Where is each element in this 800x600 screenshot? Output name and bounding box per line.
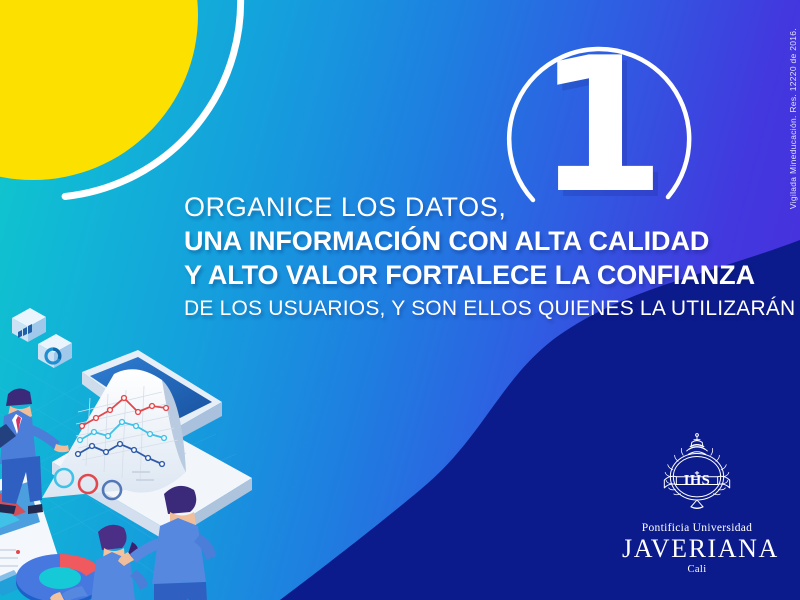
bar-chart-icon-card	[12, 308, 46, 342]
accreditation-note: Vigilada Mineducación. Res. 12220 de 201…	[788, 28, 798, 209]
headline-line-1: ORGANICE LOS DATOS,	[184, 190, 740, 224]
illustration-svg	[0, 294, 286, 600]
logo-line-javeriana: JAVERIANA	[622, 535, 772, 563]
university-logo: IHS Pontificia Universidad JAVERIANA Cal…	[622, 432, 772, 576]
headline-line-2: UNA INFORMACIÓN CON ALTA CALIDAD	[184, 224, 740, 258]
headline-line-3: Y ALTO VALOR FORTALECE LA CONFIANZA	[184, 258, 740, 292]
javeriana-crest-icon: IHS	[654, 432, 740, 518]
slide-canvas: 1 ORGANICE LOS DATOS, UNA INFORMACIÓN CO…	[0, 0, 800, 600]
data-analysis-illustration	[0, 294, 286, 600]
chart-report-paper	[42, 369, 186, 499]
donut-icon-card	[38, 334, 72, 368]
logo-line-cali: Cali	[622, 563, 772, 576]
